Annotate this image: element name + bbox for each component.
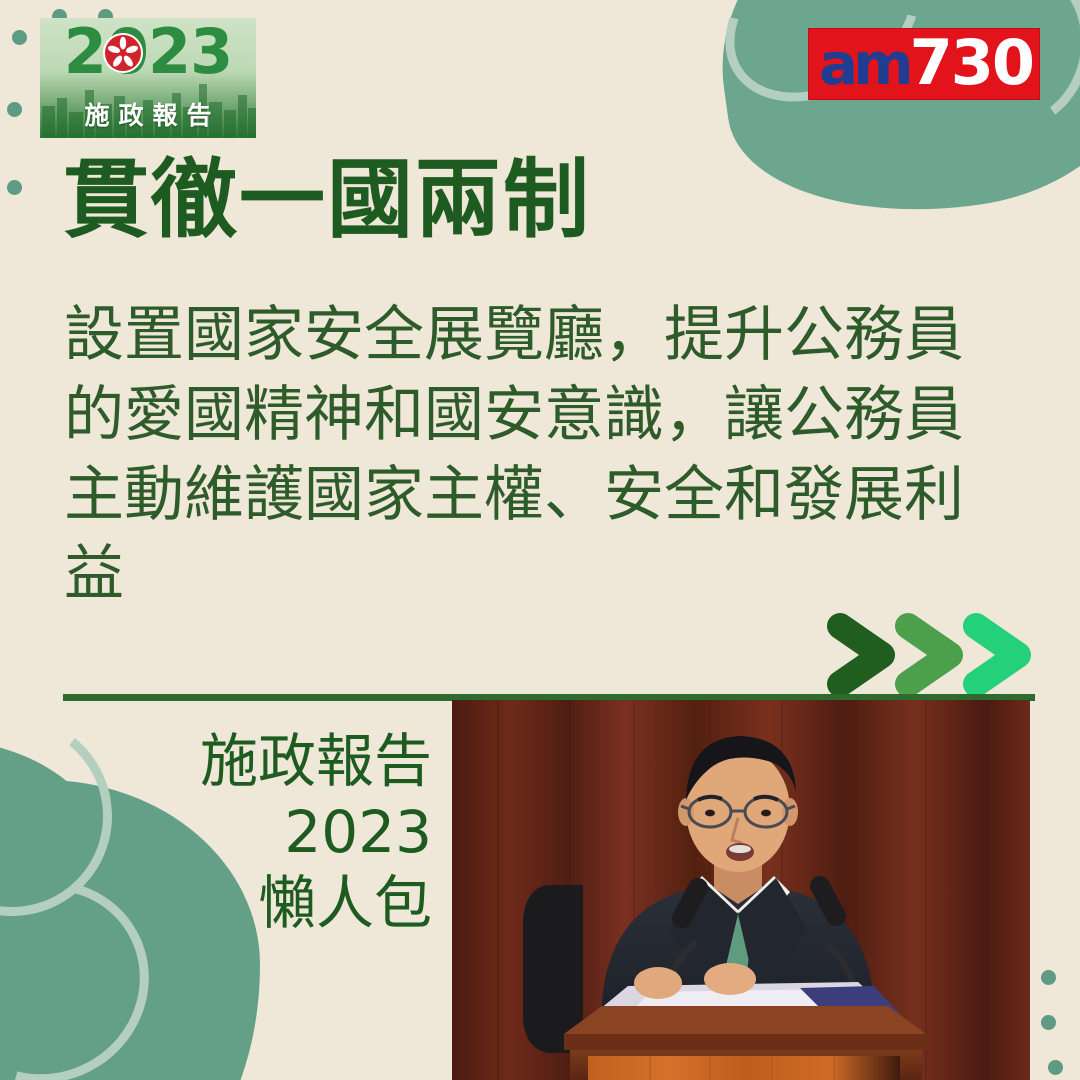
decorative-dot (7, 180, 22, 195)
decorative-dot (1041, 1015, 1056, 1030)
decorative-dot (1041, 970, 1056, 985)
series-caption: 施政報告 2023 懶人包 (120, 726, 432, 938)
decorative-curve-bottom-left (0, 706, 122, 926)
logo-year-text: 2023 (40, 20, 256, 84)
speaker-photo-graphic (452, 700, 1030, 1080)
bauhinia-petals-icon (105, 35, 141, 71)
body-text: 設置國家安全展覽廳，提升公務員的愛國精神和國安意識，讓公務員主動維護國家主權、安… (64, 296, 994, 615)
series-caption-line-3: 懶人包 (120, 868, 432, 939)
am730-logo-am: am (819, 35, 909, 93)
chevron-right-icon-3 (976, 626, 1018, 684)
am730-logo-730: 730 (910, 32, 1033, 94)
decorative-blob-bottom-left-2 (0, 740, 110, 1000)
am730-logo[interactable]: am 730 (808, 28, 1040, 100)
decorative-dot (1048, 1060, 1063, 1075)
logo-subtitle-text: 施政報告 (40, 96, 256, 132)
decorative-dot (12, 30, 27, 45)
chevron-right-icon-group (826, 612, 1046, 698)
next-chevrons[interactable] (826, 612, 1046, 698)
hong-kong-bauhinia-emblem-icon (103, 33, 143, 73)
chevron-right-icon-1 (840, 626, 882, 684)
poster-canvas: 2023 施政報告 am 730 貫徹一國兩制 設置國家安全展覽廳，提升公務員的… (0, 0, 1080, 1080)
headline: 貫徹一國兩制 (63, 155, 591, 245)
series-caption-line-1: 施政報告 (120, 726, 432, 797)
policy-address-logo: 2023 施政報告 (40, 18, 256, 138)
decorative-dot (7, 102, 22, 117)
chevron-right-icon-2 (908, 626, 950, 684)
series-caption-line-2: 2023 (120, 797, 432, 868)
speaker-photo (452, 700, 1030, 1080)
